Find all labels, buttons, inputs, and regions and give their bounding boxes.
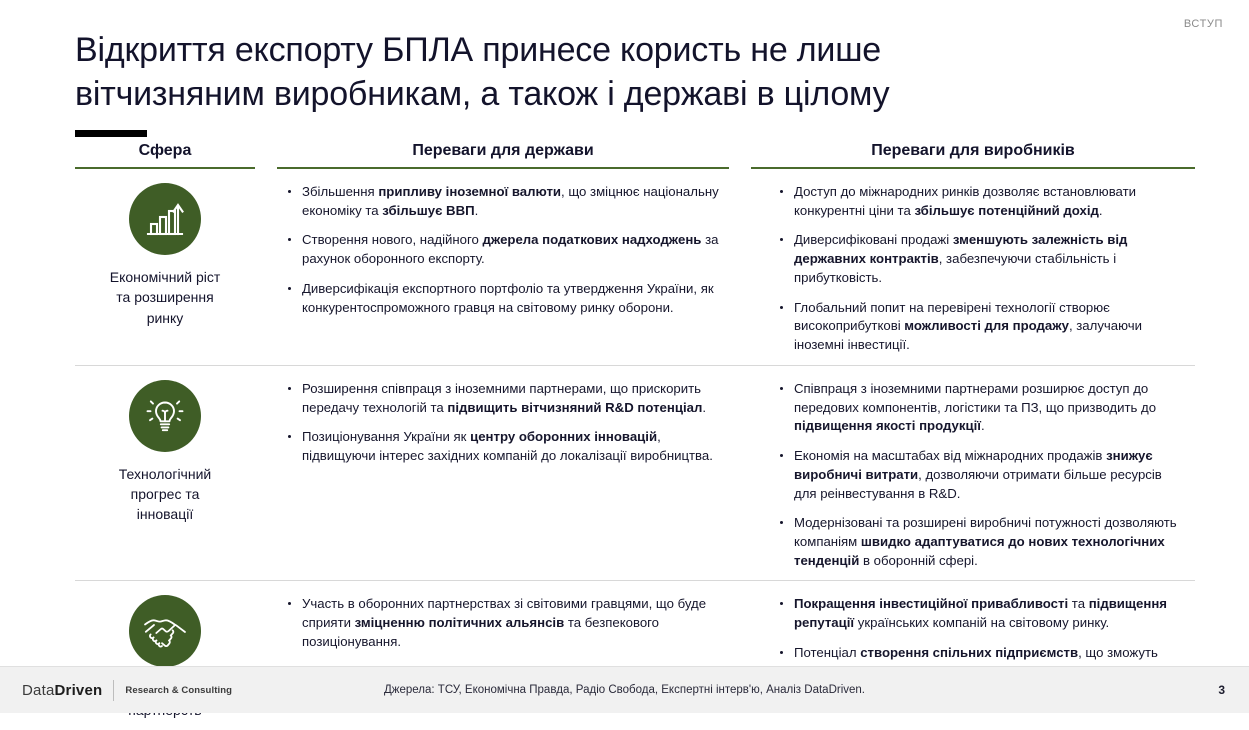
bullet-item: Диверсифіковані продажі зменшують залежн… [777,231,1185,287]
table-body: Економічний ріст та розширення ринкуЗбіл… [75,169,1195,730]
cell-gap [747,380,769,571]
bullet-item: Позиціонування України як центру оборонн… [285,428,737,465]
brand-tagline: Research & Consulting [125,685,232,696]
benefits-table: Сфера Переваги для держави Переваги для … [75,142,1195,730]
footer-bar: DataDriven Research & Consulting Джерела… [0,666,1249,713]
table-row: Економічний ріст та розширення ринкуЗбіл… [75,169,1195,366]
table-header-row: Сфера Переваги для держави Переваги для … [75,142,1195,167]
bullet-item: Участь в оборонних партнерствах зі світо… [285,595,737,651]
rule-gap-1 [255,167,277,169]
brand-name-primary: Data [22,682,55,699]
bar-chart-growth-icon [129,183,201,255]
brand-name: DataDriven [22,682,102,699]
table-row: Технологічний прогрес та інноваціїРозшир… [75,366,1195,582]
header-state-benefits: Переваги для держави [277,142,729,167]
bullet-item: Доступ до міжнародних ринків дозволяє вс… [777,183,1185,220]
state-benefits-cell: Збільшення припливу іноземної валюти, що… [277,183,747,355]
brand-name-secondary: Driven [55,682,103,699]
state-benefits-list: Збільшення припливу іноземної валюти, що… [285,183,737,317]
page-number: 3 [1218,683,1225,697]
page-title: Відкриття експорту БПЛА принесе користь … [75,28,1135,116]
maker-benefits-list: Доступ до міжнародних ринків дозволяє вс… [777,183,1185,355]
handshake-icon [129,595,201,667]
maker-benefits-cell: Доступ до міжнародних ринків дозволяє вс… [769,183,1195,355]
bullet-item: Модернізовані та розширені виробничі пот… [777,514,1185,570]
sphere-cell: Економічний ріст та розширення ринку [75,183,255,355]
sphere-cell: Технологічний прогрес та інновації [75,380,255,571]
title-accent-rule [75,130,147,137]
cell-gap [255,380,277,571]
cell-gap [747,183,769,355]
state-benefits-cell: Розширення співпраця з іноземними партне… [277,380,747,571]
bullet-item: Покращення інвестиційної привабливості т… [777,595,1185,632]
sphere-label: Економічний ріст та розширення ринку [110,267,221,328]
rule-gap-2 [729,167,751,169]
header-rule-sphere [75,167,255,169]
header-rule-maker [751,167,1195,169]
table-header-rules [75,167,1195,169]
state-benefits-list: Розширення співпраця з іноземними партне… [285,380,737,466]
maker-benefits-list: Співпраця з іноземними партнерами розшир… [777,380,1185,571]
brand-divider [113,680,114,701]
maker-benefits-cell: Співпраця з іноземними партнерами розшир… [769,380,1195,571]
bullet-item: Економія на масштабах від міжнародних пр… [777,447,1185,503]
bullet-item: Створення нового, надійного джерела пода… [285,231,737,268]
cell-gap [255,183,277,355]
sphere-label: Технологічний прогрес та інновації [119,464,211,525]
bullet-item: Співпраця з іноземними партнерами розшир… [777,380,1185,436]
title-block: Відкриття експорту БПЛА принесе користь … [75,28,1135,137]
sources-note: Джерела: ТСУ, Економічна Правда, Радіо С… [384,684,865,696]
header-sphere: Сфера [75,142,255,167]
bullet-item: Диверсифікація експортного портфоліо та … [285,280,737,317]
header-maker-benefits: Переваги для виробників [751,142,1195,167]
brand-logo: DataDriven Research & Consulting [22,680,232,701]
bullet-item: Глобальний попит на перевірені технологі… [777,299,1185,355]
header-rule-state [277,167,729,169]
lightbulb-idea-icon [129,380,201,452]
section-eyebrow: ВСТУП [1184,18,1223,30]
bullet-item: Розширення співпраця з іноземними партне… [285,380,737,417]
bullet-item: Збільшення припливу іноземної валюти, що… [285,183,737,220]
